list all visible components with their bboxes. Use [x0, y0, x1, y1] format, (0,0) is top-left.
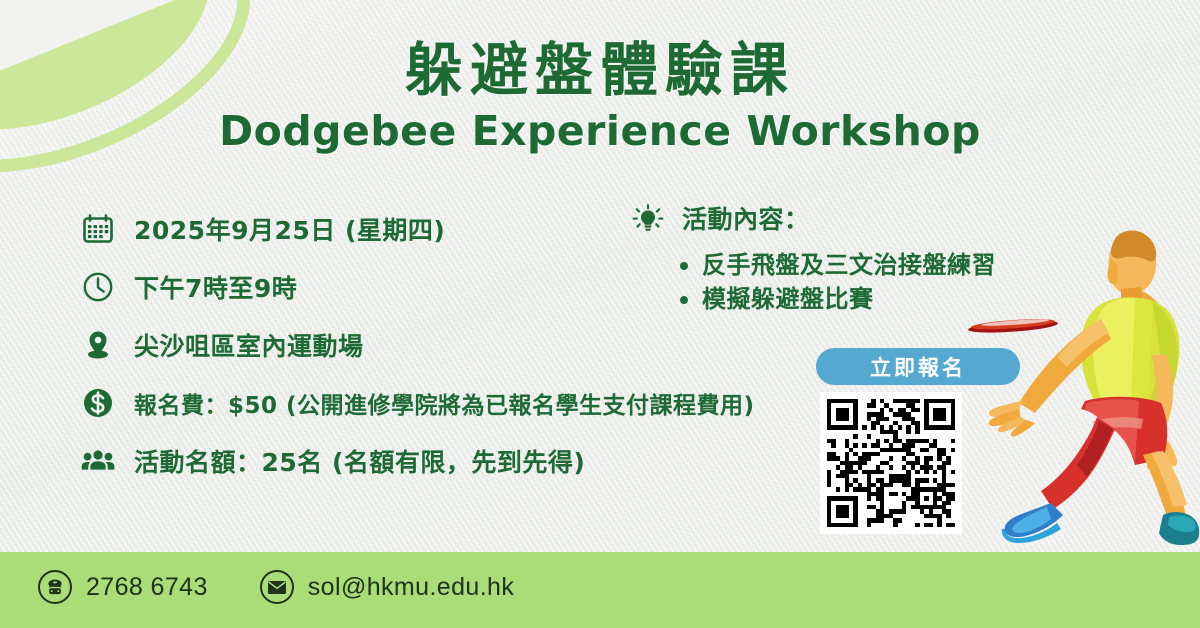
poster-canvas: 躲避盤體驗課 Dodgebee Experience Workshop — [0, 0, 1200, 628]
lightbulb-icon — [628, 200, 668, 240]
register-now-label: 立即報名 — [870, 352, 966, 382]
people-group-icon — [78, 441, 118, 481]
detail-text-date: 2025年9月25日 (星期四) — [134, 211, 445, 247]
contact-email[interactable]: sol@hkmu.edu.hk — [260, 570, 514, 604]
qr-grid — [827, 399, 955, 527]
envelope-icon — [260, 570, 294, 604]
activity-content-heading: 活動內容： — [682, 200, 810, 236]
contact-phone[interactable]: 2768 6743 — [38, 570, 208, 604]
location-pin-icon — [78, 325, 118, 365]
dollar-circle-icon — [78, 383, 118, 423]
email-address: sol@hkmu.edu.hk — [308, 573, 514, 602]
contact-info: 2768 6743 sol@hkmu.edu.hk — [38, 570, 514, 604]
detail-text-venue: 尖沙咀區室內運動場 — [134, 327, 364, 363]
telephone-icon — [38, 570, 72, 604]
clock-icon — [78, 267, 118, 307]
detail-row-venue: 尖沙咀區室內運動場 — [78, 316, 818, 374]
poster-title-block: 躲避盤體驗課 Dodgebee Experience Workshop — [0, 38, 1200, 155]
phone-number: 2768 6743 — [86, 573, 208, 602]
calendar-icon — [78, 209, 118, 249]
page-title-english: Dodgebee Experience Workshop — [0, 107, 1200, 155]
detail-row-fee: 報名費：$50 (公開進修學院將為已報名學生支付課程費用) — [78, 374, 818, 432]
registration-qr-code[interactable] — [820, 392, 962, 534]
dodgebee-player-illustration — [975, 215, 1200, 545]
footer-bar: 2768 6743 sol@hkmu.edu.hk 香港都 — [0, 552, 1200, 628]
page-title-chinese: 躲避盤體驗課 — [0, 38, 1200, 103]
detail-row-quota: 活動名額：25名 (名額有限，先到先得) — [78, 432, 818, 490]
detail-text-quota: 活動名額：25名 (名額有限，先到先得) — [134, 443, 585, 479]
detail-text-time: 下午7時至9時 — [134, 269, 297, 305]
detail-text-fee: 報名費：$50 (公開進修學院將為已報名學生支付課程費用) — [134, 386, 755, 420]
